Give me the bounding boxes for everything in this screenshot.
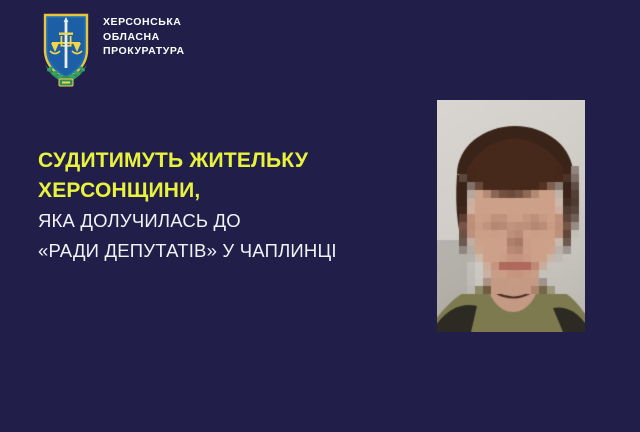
news-graphic: ХЕРСОНСЬКА ОБЛАСНА ПРОКУРАТУРА СУДИТИМУТ… bbox=[0, 0, 640, 432]
suspect-portrait bbox=[437, 100, 585, 332]
suspect-portrait-image bbox=[437, 100, 585, 332]
prosecutor-office-emblem-icon bbox=[40, 12, 92, 90]
headline-line-3: ЯКА ДОЛУЧИЛАСЬ ДО bbox=[38, 206, 408, 236]
brand-line-3: ПРОКУРАТУРА bbox=[103, 45, 185, 59]
brand-line-1: ХЕРСОНСЬКА bbox=[103, 16, 185, 30]
headline-line-2: ХЕРСОНЩИНИ, bbox=[38, 176, 408, 206]
brand-block: ХЕРСОНСЬКА ОБЛАСНА ПРОКУРАТУРА bbox=[40, 12, 185, 90]
headline-line-4: «РАДИ ДЕПУТАТІВ» У ЧАПЛИНЦІ bbox=[38, 236, 408, 266]
brand-line-2: ОБЛАСНА bbox=[103, 31, 185, 45]
headline-line-1: СУДИТИМУТЬ ЖИТЕЛЬКУ bbox=[38, 146, 408, 176]
brand-title: ХЕРСОНСЬКА ОБЛАСНА ПРОКУРАТУРА bbox=[103, 12, 185, 59]
headline: СУДИТИМУТЬ ЖИТЕЛЬКУ ХЕРСОНЩИНИ, ЯКА ДОЛУ… bbox=[38, 146, 408, 266]
